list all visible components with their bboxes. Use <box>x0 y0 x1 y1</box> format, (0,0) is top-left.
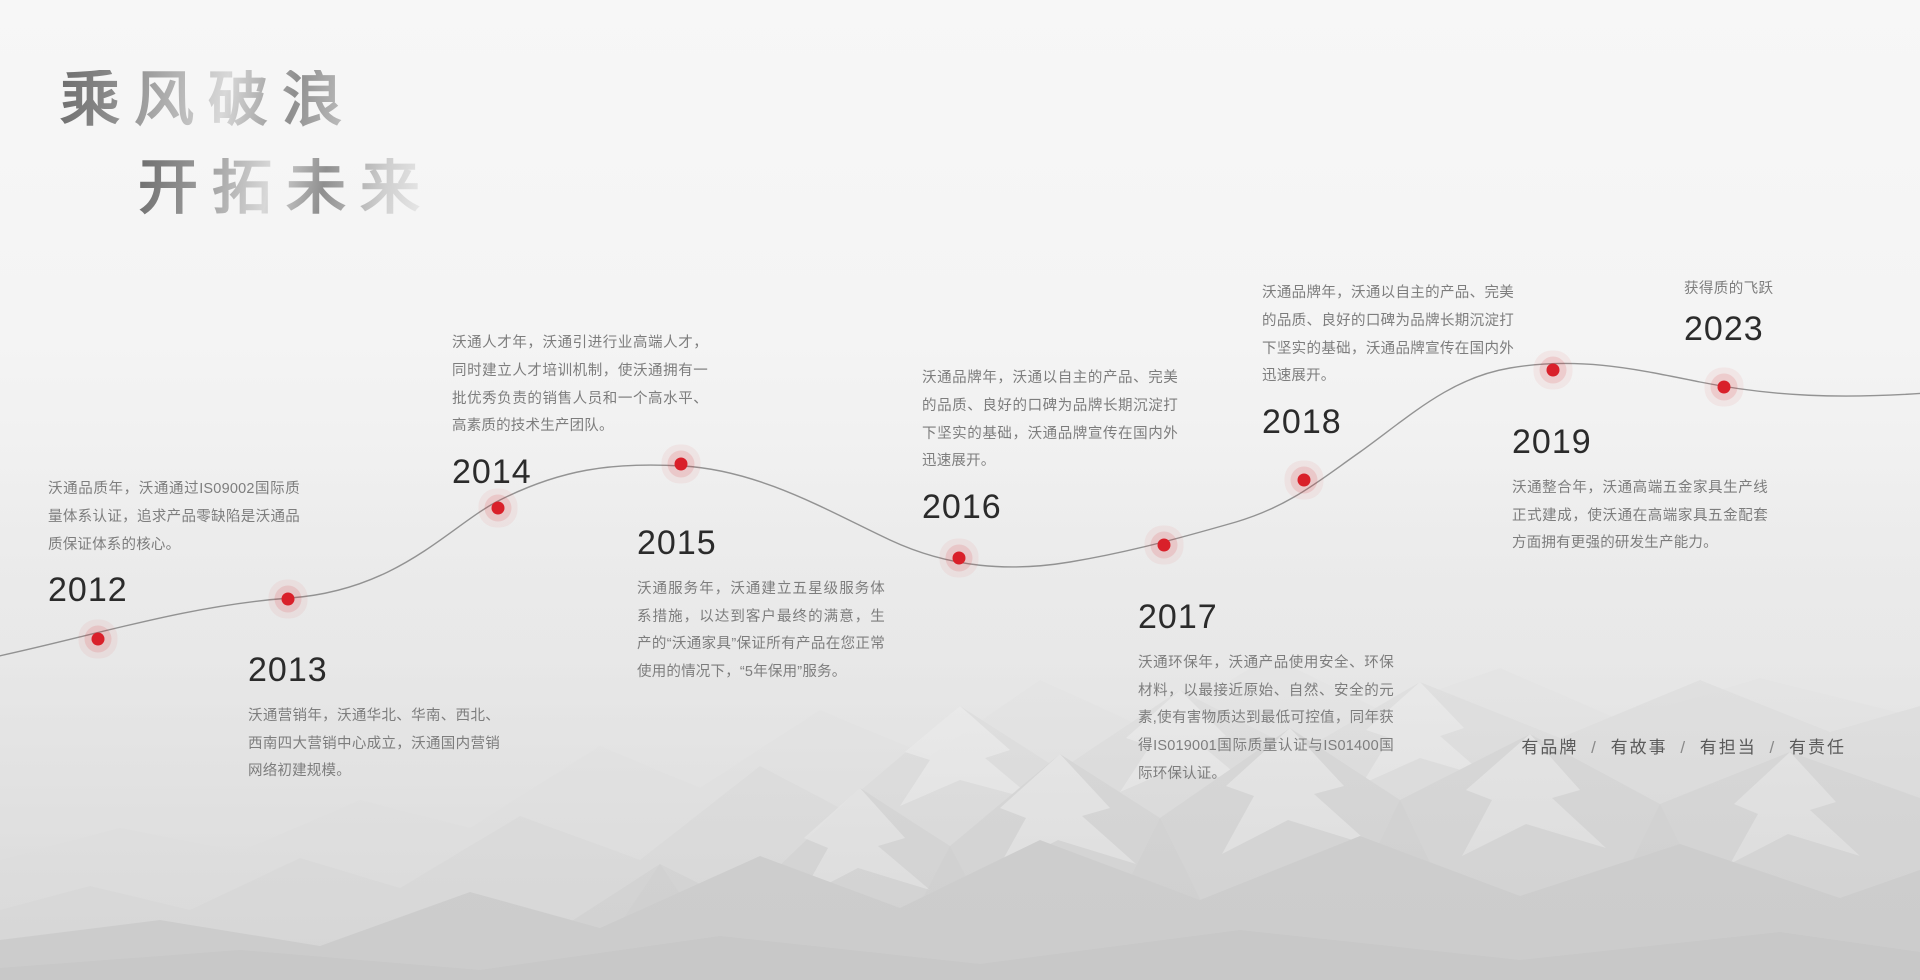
timeline-desc-2018: 沃通品牌年，沃通以自主的产品、完美的品质、良好的口碑为品牌长期沉淀打下坚实的基础… <box>1262 280 1514 391</box>
footer-separator-0: / <box>1591 738 1598 757</box>
timeline-entry-2017: 2017 沃通环保年，沃通产品使用安全、环保材料，以最接近原始、自然、安全的元素… <box>1138 592 1394 789</box>
timeline-year-2013: 2013 <box>248 653 500 689</box>
timeline-entry-2023: 获得质的飞跃 2023 <box>1684 277 1773 348</box>
footer-item-0: 有品牌 <box>1521 738 1578 757</box>
timeline-desc-2013: 沃通营销年，沃通华北、华南、西北、西南四大营销中心成立，沃通国内营销网络初建规模… <box>248 703 500 786</box>
timeline-year-2012: 2012 <box>48 573 300 609</box>
timeline-entry-2012: 沃通品质年，沃通通过IS09002国际质量体系认证，追求产品零缺陷是沃通品质保证… <box>48 466 300 609</box>
timeline-desc-2015: 沃通服务年，沃通建立五星级服务体系措施，以达到客户最终的满意，生产的“沃通家具”… <box>637 576 885 687</box>
timeline-desc-2016: 沃通品牌年，沃通以自主的产品、完美的品质、良好的口碑为品牌长期沉淀打下坚实的基础… <box>922 365 1178 476</box>
timeline-entry-2016: 沃通品牌年，沃通以自主的产品、完美的品质、良好的口碑为品牌长期沉淀打下坚实的基础… <box>922 355 1178 526</box>
timeline-dot-2017[interactable] <box>1158 539 1171 552</box>
timeline-dot-2012[interactable] <box>92 633 105 646</box>
timeline-entry-2019: 2019 沃通整合年，沃通高端五金家具生产线正式建成，使沃通在高端家具五金配套方… <box>1512 417 1768 558</box>
timeline-entry-2013: 2013 沃通营销年，沃通华北、华南、西北、西南四大营销中心成立，沃通国内营销网… <box>248 645 500 786</box>
timeline-infographic: 乘风破浪 开拓未来 沃通品质年，沃通通过IS09002国际质量体系认证，追求产品… <box>0 0 1920 980</box>
timeline-year-2017: 2017 <box>1138 600 1394 636</box>
timeline-dot-2023[interactable] <box>1718 381 1731 394</box>
footer-tagline: 有品牌 / 有故事 / 有担当 / 有责任 <box>1521 733 1846 758</box>
timeline-desc-2014: 沃通人才年，沃通引进行业高端人才，同时建立人才培训机制，使沃通拥有一批优秀负责的… <box>452 330 708 441</box>
timeline-year-2015: 2015 <box>637 526 885 562</box>
timeline-desc-2017: 沃通环保年，沃通产品使用安全、环保材料，以最接近原始、自然、安全的元素,使有害物… <box>1138 650 1394 789</box>
footer-item-2: 有担当 <box>1700 738 1757 757</box>
timeline-entry-2014: 沃通人才年，沃通引进行业高端人才，同时建立人才培训机制，使沃通拥有一批优秀负责的… <box>452 320 708 491</box>
timeline-dot-2018[interactable] <box>1298 474 1311 487</box>
timeline-dot-2014[interactable] <box>492 502 505 515</box>
timeline-year-2018: 2018 <box>1262 405 1514 441</box>
footer-separator-2: / <box>1770 738 1777 757</box>
timeline-desc-2023: 获得质的飞跃 <box>1684 277 1773 298</box>
timeline-entry-2015: 2015 沃通服务年，沃通建立五星级服务体系措施，以达到客户最终的满意，生产的“… <box>637 518 885 687</box>
timeline-year-2014: 2014 <box>452 455 708 491</box>
timeline-year-2019: 2019 <box>1512 425 1768 461</box>
timeline-desc-2019: 沃通整合年，沃通高端五金家具生产线正式建成，使沃通在高端家具五金配套方面拥有更强… <box>1512 475 1768 558</box>
timeline-year-2023: 2023 <box>1684 312 1773 348</box>
footer-item-1: 有故事 <box>1611 738 1668 757</box>
timeline-dot-2019[interactable] <box>1547 364 1560 377</box>
timeline-year-2016: 2016 <box>922 490 1178 526</box>
footer-separator-1: / <box>1680 738 1687 757</box>
timeline-desc-2012: 沃通品质年，沃通通过IS09002国际质量体系认证，追求产品零缺陷是沃通品质保证… <box>48 476 300 559</box>
timeline-dot-2016[interactable] <box>953 552 966 565</box>
timeline-entry-2018: 沃通品牌年，沃通以自主的产品、完美的品质、良好的口碑为品牌长期沉淀打下坚实的基础… <box>1262 270 1514 441</box>
footer-item-3: 有责任 <box>1789 738 1846 757</box>
